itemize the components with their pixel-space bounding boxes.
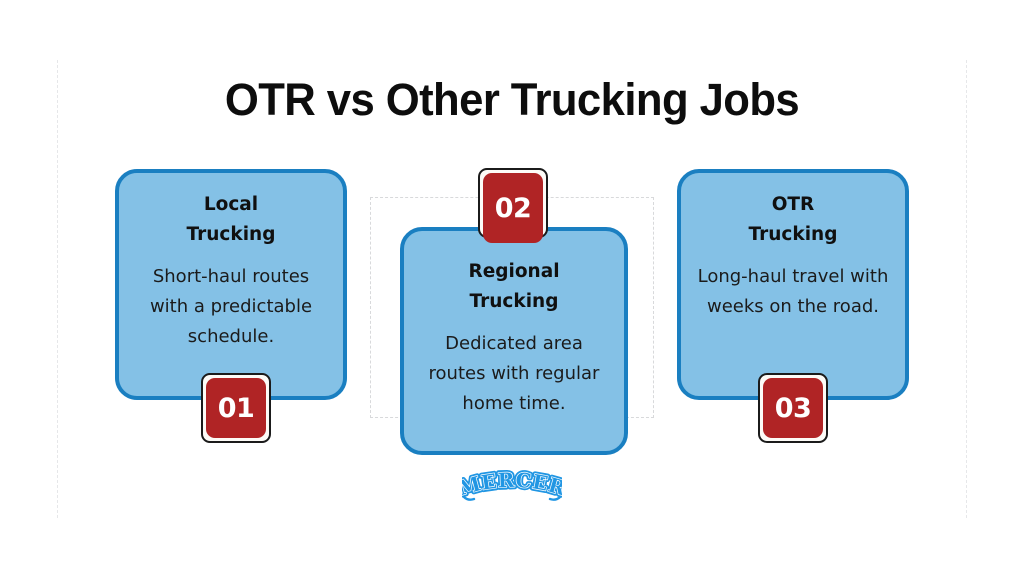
card-heading: Local Trucking — [135, 190, 327, 250]
card-heading-line-2: Trucking — [135, 220, 327, 250]
card-local-trucking: Local Trucking Short-haul routes with a … — [115, 169, 347, 400]
badge-tile: 01 — [206, 378, 266, 438]
card-body-text: Short-haul routes with a predictable sch… — [135, 262, 327, 352]
page-guide-left — [57, 60, 58, 518]
card-heading-line-1: Regional — [420, 257, 608, 287]
card-heading-line-2: Trucking — [697, 220, 889, 250]
card-heading: OTR Trucking — [697, 190, 889, 250]
card-heading-line-2: Trucking — [420, 287, 608, 317]
badge-number: 03 — [775, 395, 812, 422]
page-title: OTR vs Other Trucking Jobs — [15, 72, 1008, 128]
mercer-logo: MERCER MERCER MERCER — [462, 470, 562, 506]
card-heading-line-1: Local — [135, 190, 327, 220]
card-heading-line-1: OTR — [697, 190, 889, 220]
card-body-text: Dedicated area routes with regular home … — [420, 329, 608, 419]
card-heading: Regional Trucking — [420, 257, 608, 317]
badge-number: 02 — [495, 195, 532, 222]
svg-text:MERCER: MERCER — [462, 470, 562, 500]
infographic-canvas: OTR vs Other Trucking Jobs Local Truckin… — [0, 0, 1024, 576]
page-guide-right — [966, 60, 967, 518]
step-badge-02: 02 — [478, 168, 548, 238]
card-regional-trucking: Regional Trucking Dedicated area routes … — [400, 227, 628, 455]
card-otr-trucking: OTR Trucking Long-haul travel with weeks… — [677, 169, 909, 400]
mercer-logo-icon: MERCER MERCER MERCER — [462, 470, 562, 506]
badge-tile: 03 — [763, 378, 823, 438]
badge-tile: 02 — [483, 173, 543, 243]
badge-number: 01 — [218, 395, 255, 422]
step-badge-01: 01 — [201, 373, 271, 443]
logo-wordmark-core: MERCER — [462, 470, 562, 500]
step-badge-03: 03 — [758, 373, 828, 443]
card-body-text: Long-haul travel with weeks on the road. — [697, 262, 889, 322]
